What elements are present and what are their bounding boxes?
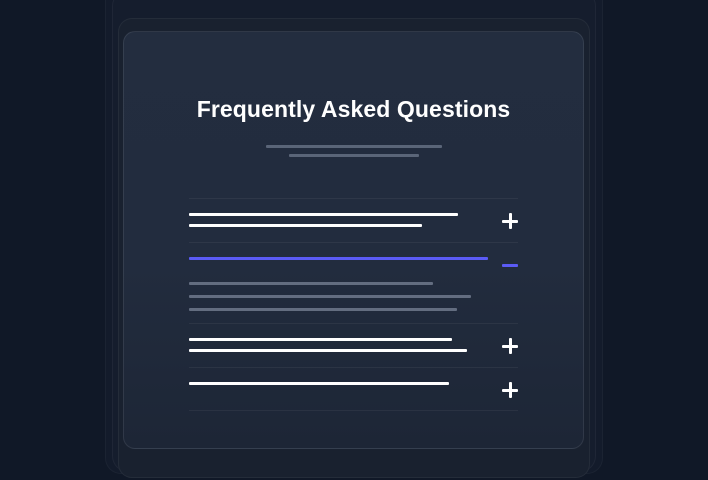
faq-question-placeholder <box>189 380 488 385</box>
faq-item[interactable] <box>189 198 518 242</box>
faq-answer-placeholder-bar <box>189 295 471 298</box>
faq-item[interactable] <box>189 323 518 367</box>
minus-icon[interactable] <box>502 257 518 273</box>
toggle-bar-horizontal <box>502 264 518 267</box>
faq-list <box>189 198 518 411</box>
faq-question-placeholder-bar <box>189 382 449 385</box>
faq-answer-placeholder-bar <box>189 308 457 311</box>
faq-question-row[interactable] <box>189 380 518 398</box>
plus-icon[interactable] <box>502 213 518 229</box>
toggle-bar-vertical <box>509 213 512 229</box>
subtitle-placeholder <box>124 145 583 163</box>
faq-question-placeholder-bar <box>189 213 458 216</box>
faq-question-placeholder-bar <box>189 338 452 341</box>
plus-icon[interactable] <box>502 338 518 354</box>
plus-icon[interactable] <box>502 382 518 398</box>
faq-answer-placeholder <box>189 273 518 311</box>
faq-question-placeholder-bar <box>189 224 422 227</box>
toggle-bar-vertical <box>509 338 512 354</box>
faq-card: Frequently Asked Questions <box>123 31 584 449</box>
subtitle-placeholder-bar <box>289 154 419 157</box>
faq-question-row[interactable] <box>189 255 518 273</box>
faq-question-placeholder <box>189 211 488 227</box>
toggle-bar-vertical <box>509 382 512 398</box>
faq-item[interactable] <box>189 242 518 323</box>
faq-item[interactable] <box>189 367 518 411</box>
faq-answer-placeholder-bar <box>189 282 433 285</box>
faq-question-placeholder <box>189 336 488 352</box>
page-title: Frequently Asked Questions <box>124 96 583 124</box>
faq-question-placeholder-bar <box>189 257 488 260</box>
faq-question-placeholder-bar <box>189 349 467 352</box>
subtitle-placeholder-bar <box>266 145 442 148</box>
faq-question-row[interactable] <box>189 211 518 229</box>
faq-question-placeholder <box>189 255 488 260</box>
faq-question-row[interactable] <box>189 336 518 354</box>
